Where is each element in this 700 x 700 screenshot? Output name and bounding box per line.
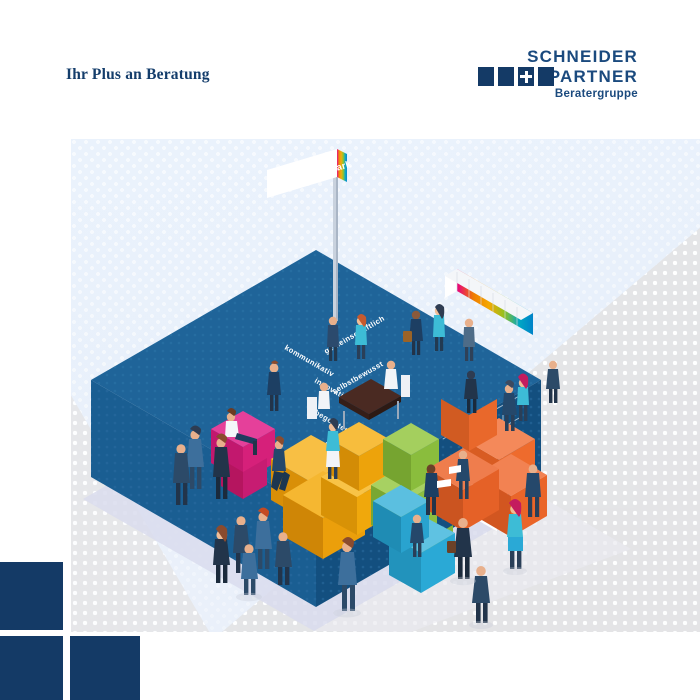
brand-logo[interactable]: SCHNEIDER PARTNER Beratergruppe xyxy=(478,48,638,106)
flag-pole xyxy=(333,159,338,321)
page-root: Ihr Plus an Beratung SCHNEIDER PARTNER B… xyxy=(0,0,700,700)
figure-far-left xyxy=(546,361,560,403)
logo-square-1-icon xyxy=(478,67,494,86)
banner-zusammenstark: #zusammenstark xyxy=(267,149,353,198)
isometric-scene: #zusammenstark kommunikativ xyxy=(71,139,700,632)
logo-text-schneider: SCHNEIDER xyxy=(527,48,638,65)
page-title: Ihr Plus an Beratung xyxy=(66,66,210,84)
corner-square-bottom-right xyxy=(70,636,140,700)
logo-square-plus-icon xyxy=(518,67,534,86)
hero-illustration: #zusammenstark kommunikativ xyxy=(71,139,700,632)
corner-square-bottom-left xyxy=(0,636,63,700)
logo-text-beratergruppe: Beratergruppe xyxy=(555,88,638,101)
logo-square-4-icon xyxy=(538,67,554,86)
logo-square-2-icon xyxy=(498,67,514,86)
page-header: Ihr Plus an Beratung SCHNEIDER PARTNER B… xyxy=(0,0,700,139)
plus-horizontal-bar xyxy=(520,75,532,78)
logo-text-partner: PARTNER xyxy=(549,68,638,85)
corner-square-top xyxy=(0,562,63,630)
logo-squares xyxy=(478,67,554,86)
